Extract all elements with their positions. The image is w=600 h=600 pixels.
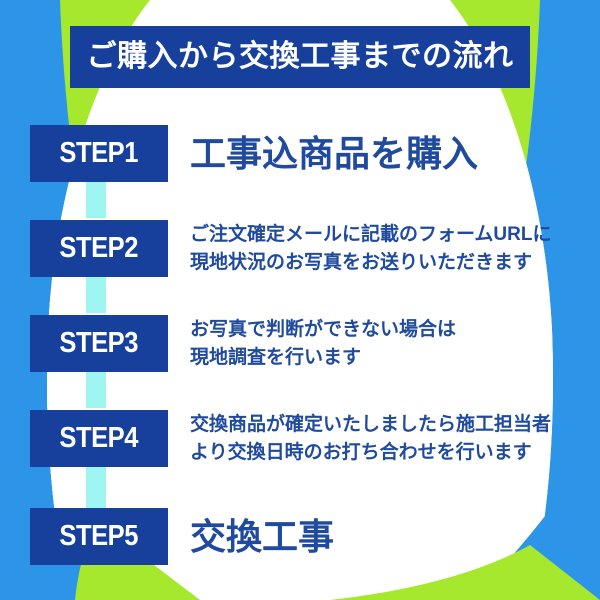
step-body-4: 交換商品が確定いたしましたら施工担当者 より交換日時のお打ち合わせを行います (190, 411, 600, 466)
step-row-1: STEP1 工事込商品を購入 (0, 125, 600, 182)
step-badge-label-3: STEP3 (60, 329, 139, 358)
step-badge-1: STEP1 (30, 125, 168, 182)
flow-infographic: ご購入から交換工事までの流れ STEP1 工事込商品を購入 STEP2 ご注文確… (0, 0, 600, 600)
step-body-3: お写真で判断ができない場合は 現地調査を行います (190, 316, 600, 371)
step-badge-2: STEP2 (30, 220, 168, 277)
step-connector-2-3 (86, 273, 106, 313)
step-text-4-line-2: より交換日時のお打ち合わせを行います (190, 439, 600, 467)
step-badge-label-1: STEP1 (60, 139, 139, 168)
step-row-4: STEP4 交換商品が確定いたしましたら施工担当者 より交換日時のお打ち合わせを… (0, 410, 600, 467)
step-connector-3-4 (86, 368, 106, 408)
step-badge-4: STEP4 (30, 410, 168, 467)
step-badge-label-5: STEP5 (60, 522, 139, 551)
step-text-2-line-2: 現地状況のお写真をお送りいただきます (190, 249, 600, 277)
step-text-2-line-1: ご注文確定メールに記載のフォームURLに (190, 221, 600, 249)
step-connector-1-2 (86, 178, 106, 218)
step-row-2: STEP2 ご注文確定メールに記載のフォームURLに 現地状況のお写真をお送りい… (0, 220, 600, 277)
step-badge-label-2: STEP2 (60, 234, 139, 263)
step-body-5: 交換工事 (190, 517, 600, 557)
step-text-4-line-1: 交換商品が確定いたしましたら施工担当者 (190, 411, 600, 439)
step-body-2: ご注文確定メールに記載のフォームURLに 現地状況のお写真をお送りいただきます (190, 221, 600, 276)
step-badge-3: STEP3 (30, 315, 168, 372)
step-row-3: STEP3 お写真で判断ができない場合は 現地調査を行います (0, 315, 600, 372)
step-body-1: 工事込商品を購入 (190, 134, 600, 174)
step-row-5: STEP5 交換工事 (0, 508, 600, 565)
step-text-5-line-1: 交換工事 (190, 517, 600, 557)
step-text-3-line-1: お写真で判断ができない場合は (190, 316, 600, 344)
step-badge-label-4: STEP4 (60, 424, 139, 453)
header-banner: ご購入から交換工事までの流れ (70, 26, 530, 88)
page-title: ご購入から交換工事までの流れ (87, 42, 514, 72)
step-connector-4-5 (86, 463, 106, 508)
step-badge-5: STEP5 (30, 508, 168, 565)
step-text-1-line-1: 工事込商品を購入 (190, 134, 600, 174)
step-text-3-line-2: 現地調査を行います (190, 344, 600, 372)
